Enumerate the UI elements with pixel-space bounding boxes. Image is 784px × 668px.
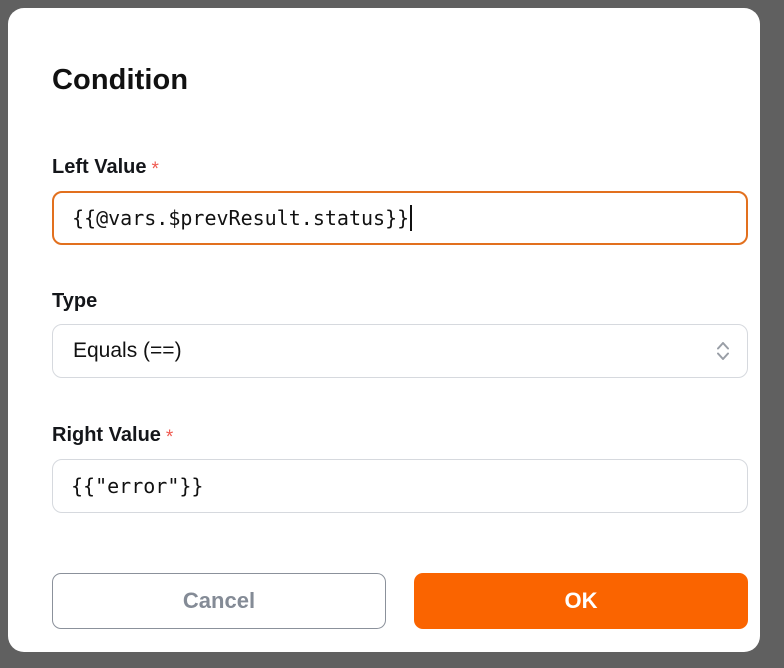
left-value-input[interactable]: {{@vars.$prevResult.status}}	[52, 191, 748, 245]
required-asterisk: *	[151, 159, 158, 180]
type-label: Type	[52, 288, 748, 314]
right-value-label-text: Right Value	[52, 424, 161, 446]
condition-dialog: Condition Left Value* {{@vars.$prevResul…	[8, 8, 760, 652]
ok-button[interactable]: OK	[414, 573, 748, 629]
field-right-value: Right Value* {{"error"}}	[52, 422, 748, 513]
type-select[interactable]: Equals (==)	[52, 324, 748, 378]
cancel-button[interactable]: Cancel	[52, 573, 386, 629]
right-value-input-text: {{"error"}}	[71, 474, 203, 498]
type-select-value: Equals (==)	[73, 339, 182, 363]
left-value-label-text: Left Value	[52, 156, 146, 178]
text-caret	[410, 205, 412, 231]
field-type: Type Equals (==)	[52, 288, 748, 378]
dialog-footer: Cancel OK	[52, 573, 748, 629]
right-value-input[interactable]: {{"error"}}	[52, 459, 748, 513]
right-value-label: Right Value*	[52, 422, 748, 449]
dialog-title: Condition	[52, 62, 188, 98]
required-asterisk: *	[166, 427, 173, 448]
chevron-up-down-icon	[715, 337, 731, 365]
type-label-text: Type	[52, 290, 97, 312]
left-value-input-text: {{@vars.$prevResult.status}}	[72, 206, 409, 230]
left-value-label: Left Value*	[52, 154, 748, 181]
field-left-value: Left Value* {{@vars.$prevResult.status}}	[52, 154, 748, 245]
